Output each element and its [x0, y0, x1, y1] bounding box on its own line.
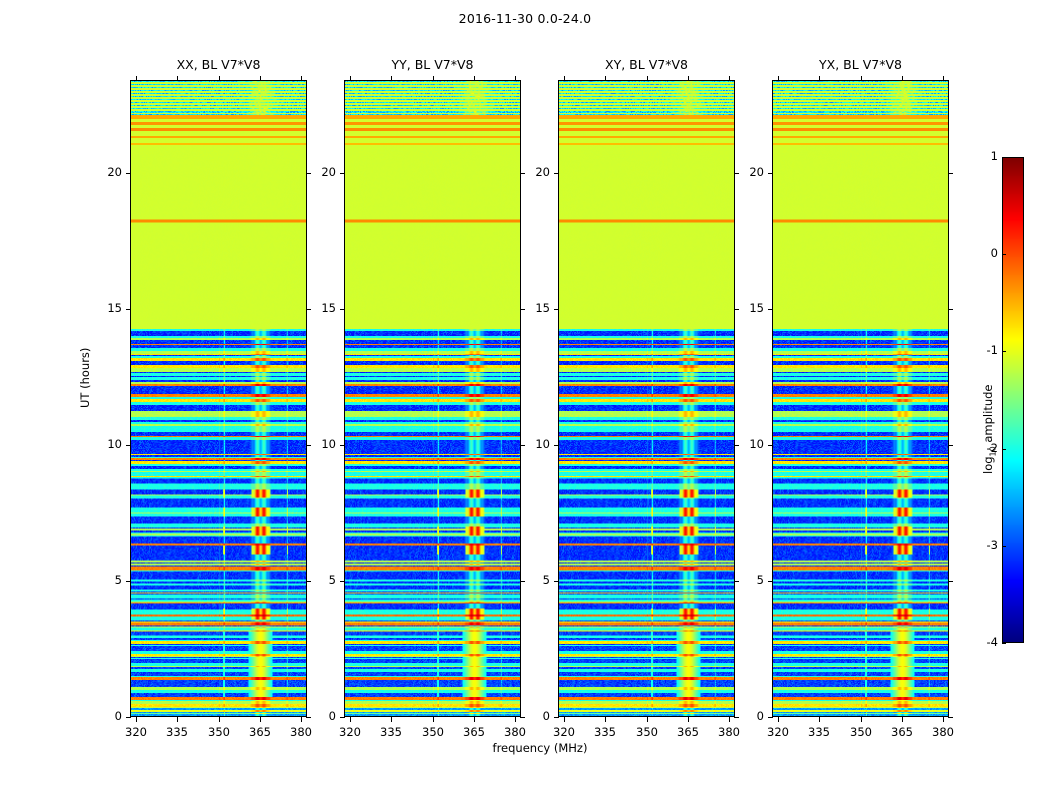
y-tick-label: 20	[736, 165, 764, 179]
colorbar-tick	[1002, 157, 1006, 158]
x-tick-top	[861, 76, 862, 81]
x-tick-top	[301, 76, 302, 81]
heatmap-xx[interactable]	[130, 80, 307, 717]
x-tick-top	[219, 76, 220, 81]
y-tick-left	[768, 717, 773, 718]
y-tick-label: 10	[308, 437, 336, 451]
x-tick-top	[943, 76, 944, 81]
x-tick-top	[136, 76, 137, 81]
x-tick-top	[177, 76, 178, 81]
x-tick-bottom	[136, 717, 137, 722]
y-tick-label: 0	[94, 709, 122, 723]
x-tick-bottom	[301, 717, 302, 722]
y-tick-left	[126, 309, 131, 310]
y-tick-label: 0	[736, 709, 764, 723]
y-tick-right	[948, 717, 953, 718]
y-tick-left	[554, 309, 559, 310]
y-tick-left	[340, 309, 345, 310]
x-tick-label: 335	[371, 725, 411, 739]
y-tick-left	[554, 445, 559, 446]
x-tick-top	[778, 76, 779, 81]
y-tick-left	[768, 173, 773, 174]
x-tick-bottom	[474, 717, 475, 722]
x-tick-bottom	[902, 717, 903, 722]
x-tick-top	[647, 76, 648, 81]
colorbar-tick	[1002, 546, 1006, 547]
x-tick-top	[260, 76, 261, 81]
panel-title-xy: XY, BL V7*V8	[558, 57, 735, 72]
x-tick-bottom	[778, 717, 779, 722]
y-tick-left	[768, 445, 773, 446]
x-tick-label: 320	[330, 725, 370, 739]
x-tick-top	[350, 76, 351, 81]
x-tick-label: 350	[841, 725, 881, 739]
y-tick-label: 10	[94, 437, 122, 451]
x-tick-bottom	[350, 717, 351, 722]
x-tick-label: 350	[199, 725, 239, 739]
x-tick-bottom	[260, 717, 261, 722]
y-tick-label: 0	[308, 709, 336, 723]
colorbar-tick-label: -4	[972, 635, 998, 649]
y-tick-label: 15	[736, 301, 764, 315]
x-tick-bottom	[515, 717, 516, 722]
x-tick-top	[564, 76, 565, 81]
panel-title-yy: YY, BL V7*V8	[344, 57, 521, 72]
colorbar-tick-label: -1	[972, 343, 998, 357]
y-tick-label: 20	[94, 165, 122, 179]
x-tick-top	[474, 76, 475, 81]
x-axis-label: frequency (MHz)	[440, 741, 640, 755]
x-tick-label: 365	[668, 725, 708, 739]
y-tick-left	[340, 173, 345, 174]
y-tick-label: 10	[736, 437, 764, 451]
x-tick-label: 335	[157, 725, 197, 739]
colorbar-tick-label: 0	[972, 246, 998, 260]
x-tick-label: 320	[758, 725, 798, 739]
colorbar-tick	[1002, 351, 1006, 352]
y-tick-label: 5	[94, 573, 122, 587]
colorbar-tick-label: -2	[972, 441, 998, 455]
y-tick-label: 5	[308, 573, 336, 587]
y-tick-left	[126, 581, 131, 582]
colorbar-label-rest: amplitude	[981, 385, 995, 447]
x-tick-top	[729, 76, 730, 81]
x-tick-label: 335	[585, 725, 625, 739]
panel-xy[interactable]: XY, BL V7*V8	[558, 80, 735, 717]
panel-title-yx: YX, BL V7*V8	[772, 57, 949, 72]
figure-suptitle: 2016-11-30 0.0-24.0	[0, 11, 1050, 26]
x-tick-bottom	[943, 717, 944, 722]
y-tick-label: 15	[308, 301, 336, 315]
heatmap-canvas-yx	[773, 81, 948, 716]
y-tick-label: 5	[522, 573, 550, 587]
panel-title-xx: XX, BL V7*V8	[130, 57, 307, 72]
x-tick-bottom	[177, 717, 178, 722]
x-tick-label: 350	[627, 725, 667, 739]
x-tick-label: 380	[923, 725, 963, 739]
x-tick-bottom	[391, 717, 392, 722]
y-tick-left	[126, 717, 131, 718]
y-tick-left	[126, 445, 131, 446]
x-tick-label: 320	[116, 725, 156, 739]
x-tick-bottom	[605, 717, 606, 722]
x-tick-label: 380	[495, 725, 535, 739]
colorbar-tick	[1002, 643, 1006, 644]
x-tick-label: 320	[544, 725, 584, 739]
heatmap-canvas-yy	[345, 81, 520, 716]
heatmap-yx[interactable]	[772, 80, 949, 717]
colorbar-label-main: log	[981, 456, 995, 474]
x-tick-bottom	[861, 717, 862, 722]
x-tick-label: 380	[281, 725, 321, 739]
colorbar-gradient	[1003, 158, 1023, 642]
colorbar-label: log10 amplitude	[981, 385, 997, 475]
x-tick-label: 365	[882, 725, 922, 739]
x-tick-bottom	[564, 717, 565, 722]
colorbar-tick	[1002, 254, 1006, 255]
x-tick-bottom	[219, 717, 220, 722]
panel-yx[interactable]: YX, BL V7*V8	[772, 80, 949, 717]
colorbar-tick-label: -3	[972, 538, 998, 552]
x-tick-bottom	[688, 717, 689, 722]
y-tick-right	[948, 581, 953, 582]
y-tick-left	[340, 445, 345, 446]
heatmap-canvas-xy	[559, 81, 734, 716]
y-tick-label: 0	[522, 709, 550, 723]
x-tick-bottom	[647, 717, 648, 722]
x-tick-label: 335	[799, 725, 839, 739]
x-tick-top	[819, 76, 820, 81]
y-tick-left	[340, 717, 345, 718]
y-tick-right	[948, 173, 953, 174]
y-tick-left	[554, 581, 559, 582]
y-tick-left	[340, 581, 345, 582]
heatmap-xy[interactable]	[558, 80, 735, 717]
y-tick-label: 20	[308, 165, 336, 179]
y-tick-left	[768, 309, 773, 310]
x-tick-label: 365	[240, 725, 280, 739]
x-tick-label: 350	[413, 725, 453, 739]
x-tick-label: 380	[709, 725, 749, 739]
y-tick-label: 10	[522, 437, 550, 451]
y-tick-left	[768, 581, 773, 582]
y-tick-label: 20	[522, 165, 550, 179]
x-tick-top	[515, 76, 516, 81]
panel-yy[interactable]: YY, BL V7*V8	[344, 80, 521, 717]
colorbar[interactable]	[1002, 157, 1024, 643]
y-tick-label: 5	[736, 573, 764, 587]
heatmap-yy[interactable]	[344, 80, 521, 717]
heatmap-canvas-xx	[131, 81, 306, 716]
y-tick-label: 15	[522, 301, 550, 315]
x-tick-top	[605, 76, 606, 81]
x-tick-label: 365	[454, 725, 494, 739]
y-axis-label: UT (hours)	[78, 348, 92, 408]
y-tick-left	[554, 173, 559, 174]
figure-canvas: 2016-11-30 0.0-24.0 XX, BL V7*V8 YY, BL …	[0, 0, 1050, 800]
x-tick-top	[902, 76, 903, 81]
panel-xx[interactable]: XX, BL V7*V8	[130, 80, 307, 717]
y-tick-right	[948, 309, 953, 310]
x-tick-top	[688, 76, 689, 81]
y-tick-left	[126, 173, 131, 174]
x-tick-bottom	[433, 717, 434, 722]
colorbar-tick-label: 1	[972, 149, 998, 163]
x-tick-bottom	[819, 717, 820, 722]
y-tick-left	[554, 717, 559, 718]
x-tick-top	[433, 76, 434, 81]
x-tick-top	[391, 76, 392, 81]
y-tick-right	[948, 445, 953, 446]
y-tick-label: 15	[94, 301, 122, 315]
colorbar-tick	[1002, 449, 1006, 450]
x-tick-bottom	[729, 717, 730, 722]
